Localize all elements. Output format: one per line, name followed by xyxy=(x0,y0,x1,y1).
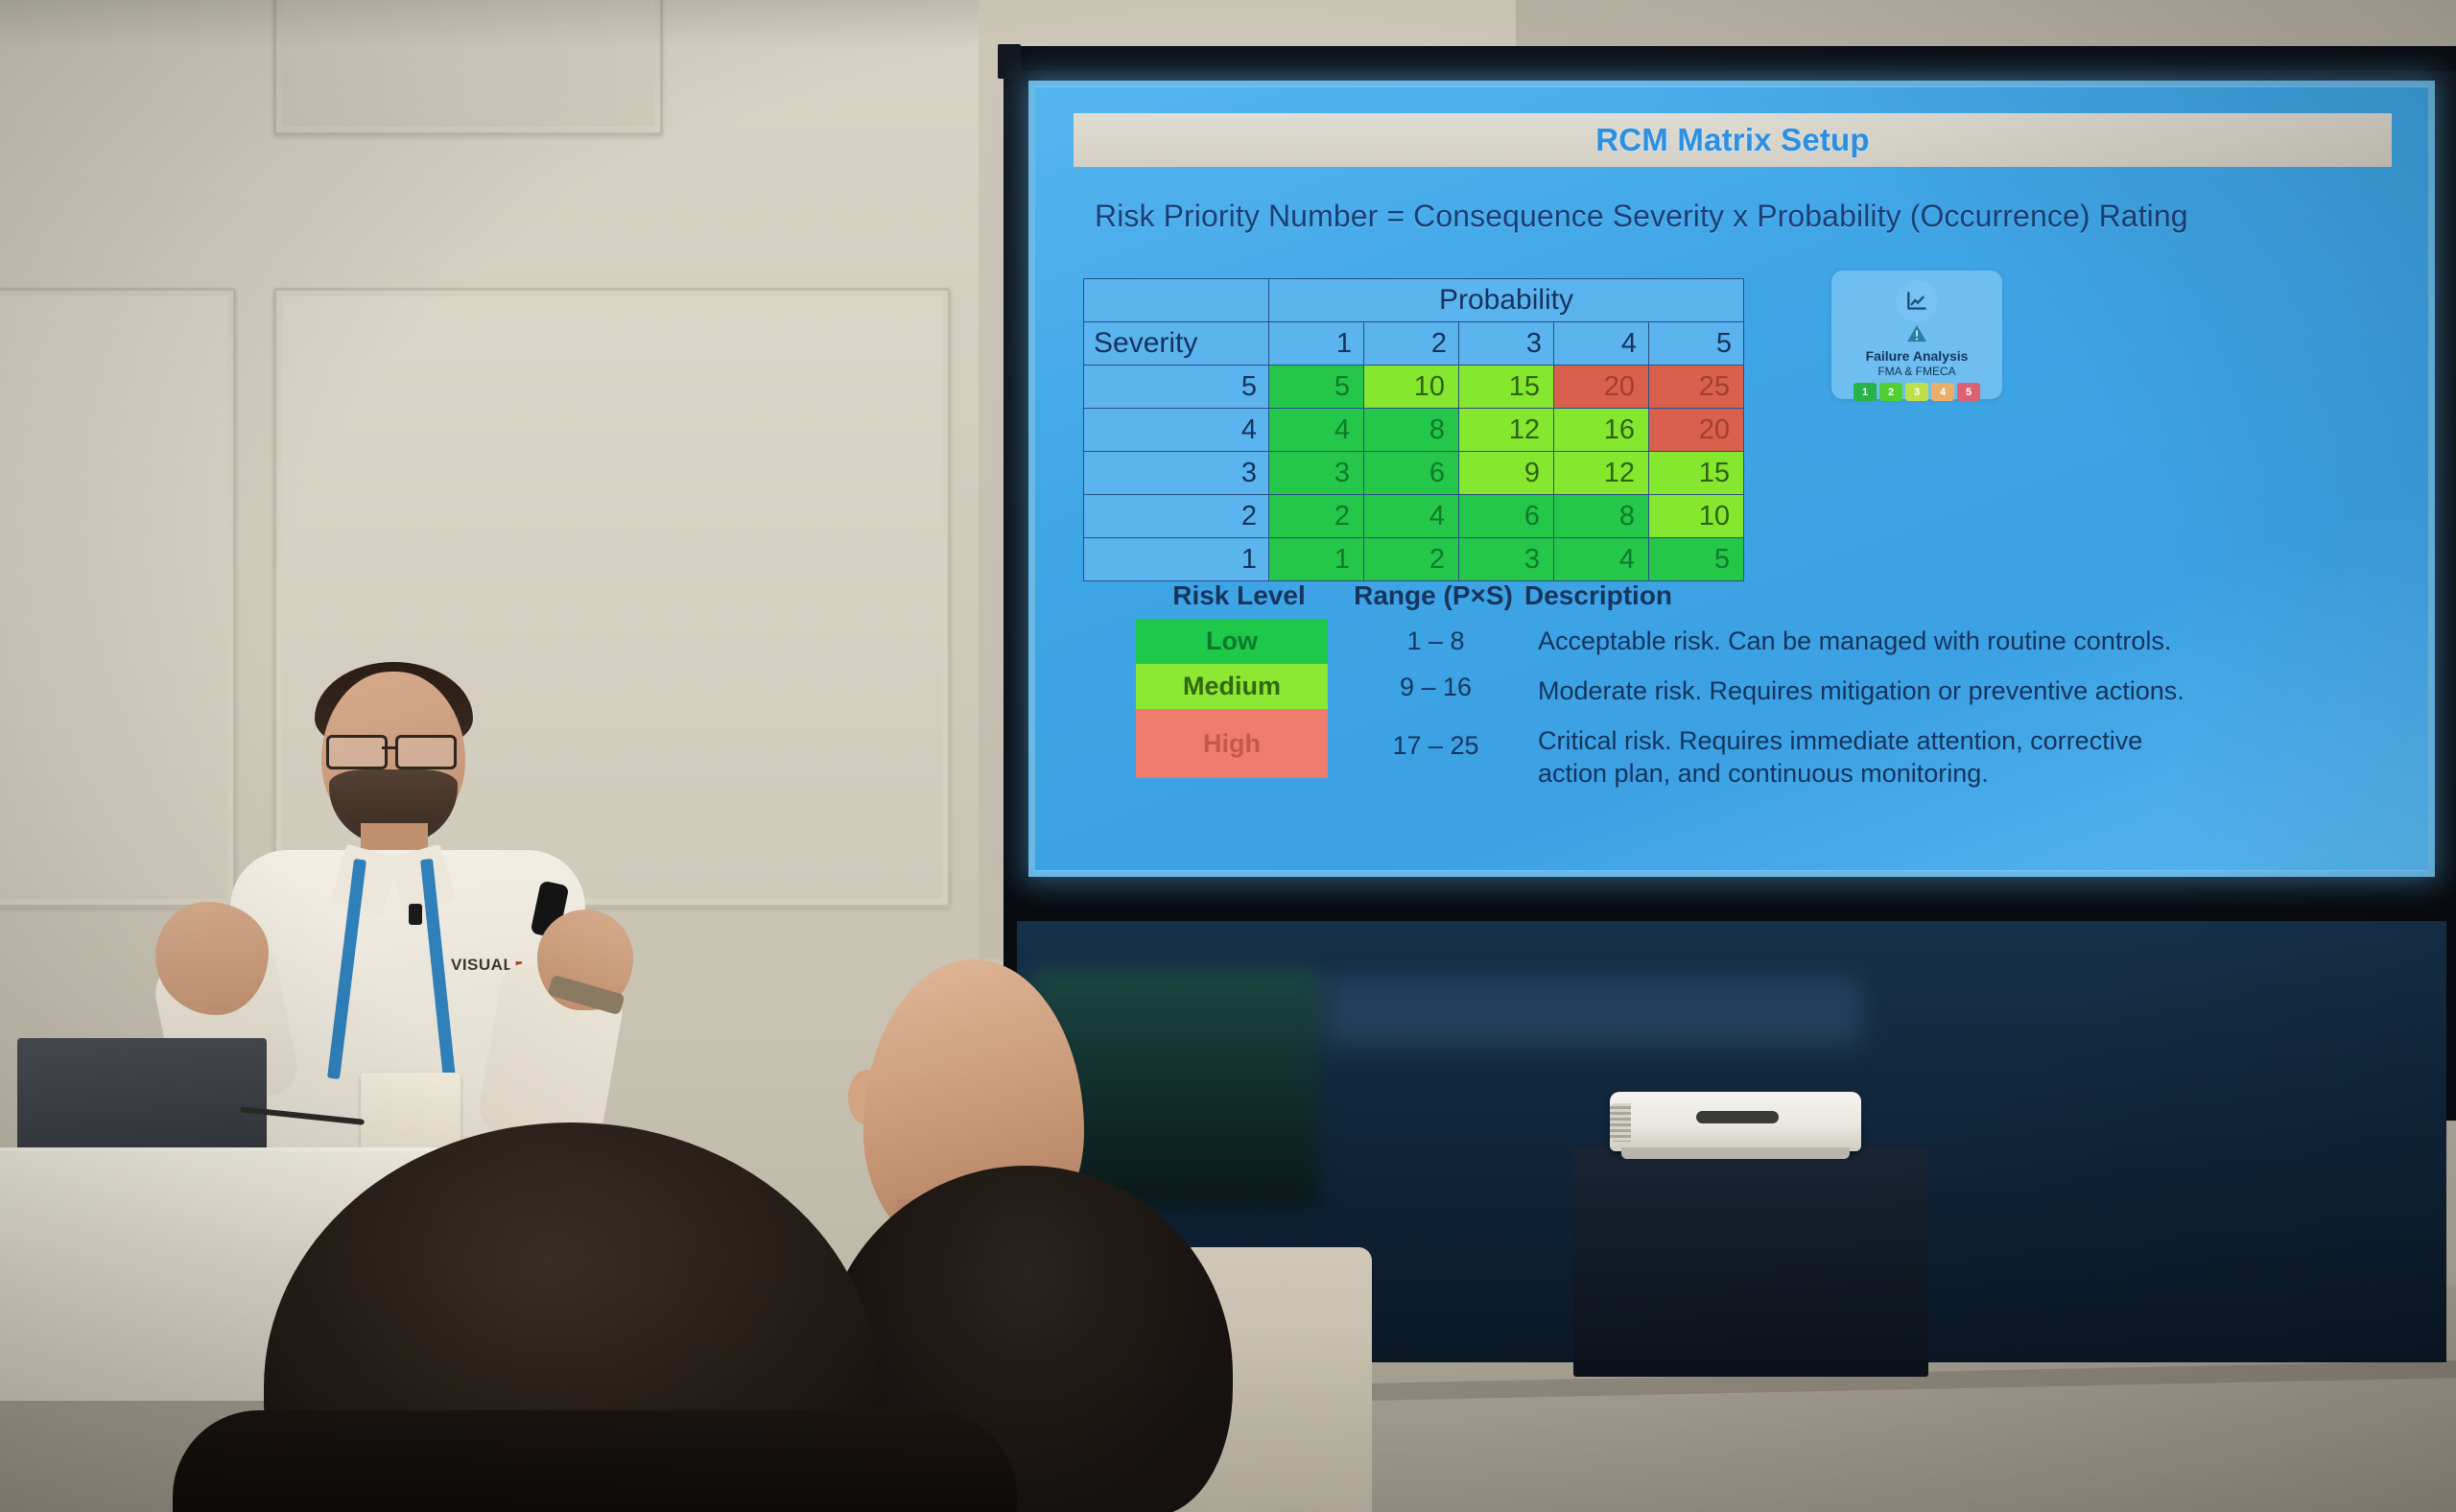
shirt-logo-text: VISUAL xyxy=(451,956,513,974)
matrix-cell-s1-p2: 2 xyxy=(1364,538,1459,581)
failure-analysis-subtitle: FMA & FMECA xyxy=(1831,365,2002,378)
matrix-cell-s3-p1: 3 xyxy=(1269,452,1364,495)
legend-header-range: Range (P×S) xyxy=(1342,580,1524,611)
failure-chip-5: 5 xyxy=(1957,383,1980,401)
matrix-cell-s3-p3: 9 xyxy=(1459,452,1554,495)
failure-chip-4: 4 xyxy=(1931,383,1954,401)
risk-matrix-table: Probability Severity 1 2 3 4 5 551015202… xyxy=(1083,278,1744,581)
slide-title: RCM Matrix Setup xyxy=(1595,122,1870,158)
matrix-cell-s1-p5: 5 xyxy=(1649,538,1744,581)
legend-description-medium: Moderate risk. Requires mitigation or pr… xyxy=(1538,657,2209,707)
matrix-row: 5510152025 xyxy=(1084,366,1744,409)
matrix-cell-s2-p3: 6 xyxy=(1459,495,1554,538)
legend-body: Low Medium High 1 – 8 9 – 16 17 – 25 Acc… xyxy=(1136,619,2209,790)
projected-slide: RCM Matrix Setup Risk Priority Number = … xyxy=(1035,86,2428,871)
matrix-cell-s1-p1: 1 xyxy=(1269,538,1364,581)
legend-description-column: Acceptable risk. Can be managed with rou… xyxy=(1534,619,2209,790)
matrix-cell-s4-p1: 4 xyxy=(1269,409,1364,452)
legend-swatch-low: Low xyxy=(1136,619,1328,664)
failure-chip-2: 2 xyxy=(1879,383,1902,401)
slide-title-bar: RCM Matrix Setup xyxy=(1074,113,2392,167)
matrix-severity-header: Severity xyxy=(1084,322,1269,366)
legend-description-low: Acceptable risk. Can be managed with rou… xyxy=(1538,619,2209,657)
projector-vent xyxy=(1610,1103,1631,1142)
matrix-row: 448121620 xyxy=(1084,409,1744,452)
matrix-cell-s1-p3: 3 xyxy=(1459,538,1554,581)
matrix-cell-s4-p2: 8 xyxy=(1364,409,1459,452)
matrix-header-row: Severity 1 2 3 4 5 xyxy=(1084,322,1744,366)
legend-range-medium: 9 – 16 xyxy=(1337,656,1534,702)
audience-shoulders-foreground xyxy=(173,1410,1017,1512)
matrix-row-label-3: 3 xyxy=(1084,452,1269,495)
screen-reflection-blue xyxy=(1324,979,1861,1046)
projector-lens xyxy=(1696,1111,1779,1123)
legend-header-risk-level: Risk Level xyxy=(1136,580,1342,611)
matrix-probability-header: Probability xyxy=(1269,279,1744,322)
failure-chip-1: 1 xyxy=(1854,383,1877,401)
legend-swatch-high: High xyxy=(1136,709,1328,778)
matrix-cell-s5-p3: 15 xyxy=(1459,366,1554,409)
matrix-col-label-3: 3 xyxy=(1459,322,1554,366)
failure-analysis-title: Failure Analysis xyxy=(1831,348,2002,364)
matrix-cell-s2-p4: 8 xyxy=(1554,495,1649,538)
matrix-row: 112345 xyxy=(1084,538,1744,581)
matrix-cell-s3-p2: 6 xyxy=(1364,452,1459,495)
legend-swatch-column: Low Medium High xyxy=(1136,619,1328,790)
matrix-cell-s4-p4: 16 xyxy=(1554,409,1649,452)
screen-top-bezel xyxy=(1004,46,2456,71)
legend-description-high: Critical risk. Requires immediate attent… xyxy=(1538,707,2209,790)
matrix-cell-s5-p5: 25 xyxy=(1649,366,1744,409)
screen-mount-bracket xyxy=(998,44,1021,79)
matrix-cell-s2-p2: 4 xyxy=(1364,495,1459,538)
matrix-row-label-5: 5 xyxy=(1084,366,1269,409)
legend-header-description: Description xyxy=(1524,580,2023,611)
matrix-col-label-4: 4 xyxy=(1554,322,1649,366)
failure-analysis-card: Failure Analysis FMA & FMECA 12345 xyxy=(1831,271,2002,399)
matrix-body: 5510152025448121620336912152246810112345 xyxy=(1084,366,1744,581)
matrix-row: 2246810 xyxy=(1084,495,1744,538)
legend-range-high: 17 – 25 xyxy=(1337,702,1534,761)
glasses-icon xyxy=(326,735,460,764)
matrix-row-label-4: 4 xyxy=(1084,409,1269,452)
matrix-group-header-row: Probability xyxy=(1084,279,1744,322)
legend-range-low: 1 – 8 xyxy=(1337,619,1534,656)
glasses-lens-left xyxy=(326,735,388,769)
matrix-col-label-1: 1 xyxy=(1269,322,1364,366)
matrix-row: 33691215 xyxy=(1084,452,1744,495)
glasses-lens-right xyxy=(395,735,457,769)
legend-header-row: Risk Level Range (P×S) Description xyxy=(1136,580,2209,611)
matrix-col-label-2: 2 xyxy=(1364,322,1459,366)
risk-legend: Risk Level Range (P×S) Description Low M… xyxy=(1136,580,2209,790)
presenter-laptop xyxy=(17,1038,267,1153)
matrix-row-label-1: 1 xyxy=(1084,538,1269,581)
lapel-microphone xyxy=(409,904,422,925)
legend-swatch-medium: Medium xyxy=(1136,664,1328,709)
slide-subtitle: Risk Priority Number = Consequence Sever… xyxy=(1095,199,2188,234)
matrix-cell-s3-p4: 12 xyxy=(1554,452,1649,495)
matrix-cell-s5-p4: 20 xyxy=(1554,366,1649,409)
matrix-cell-s4-p3: 12 xyxy=(1459,409,1554,452)
legend-range-column: 1 – 8 9 – 16 17 – 25 xyxy=(1328,619,1534,790)
matrix-col-label-5: 5 xyxy=(1649,322,1744,366)
matrix-cell-s4-p5: 20 xyxy=(1649,409,1744,452)
matrix-cell-s2-p5: 10 xyxy=(1649,495,1744,538)
projector-base xyxy=(1621,1147,1850,1159)
matrix-row-label-2: 2 xyxy=(1084,495,1269,538)
presentation-room-photo: RCM Matrix Setup Risk Priority Number = … xyxy=(0,0,2456,1512)
projector-table xyxy=(1573,1146,1928,1377)
warning-triangle-icon xyxy=(1831,324,2002,347)
chart-line-icon xyxy=(1896,280,1938,322)
matrix-cell-s5-p1: 5 xyxy=(1269,366,1364,409)
matrix-cell-s3-p5: 15 xyxy=(1649,452,1744,495)
matrix-cell-s5-p2: 10 xyxy=(1364,366,1459,409)
matrix-cell-s1-p4: 4 xyxy=(1554,538,1649,581)
failure-chip-3: 3 xyxy=(1905,383,1928,401)
failure-analysis-chips: 12345 xyxy=(1831,383,2002,401)
matrix-corner-blank xyxy=(1084,279,1269,322)
matrix-cell-s2-p1: 2 xyxy=(1269,495,1364,538)
